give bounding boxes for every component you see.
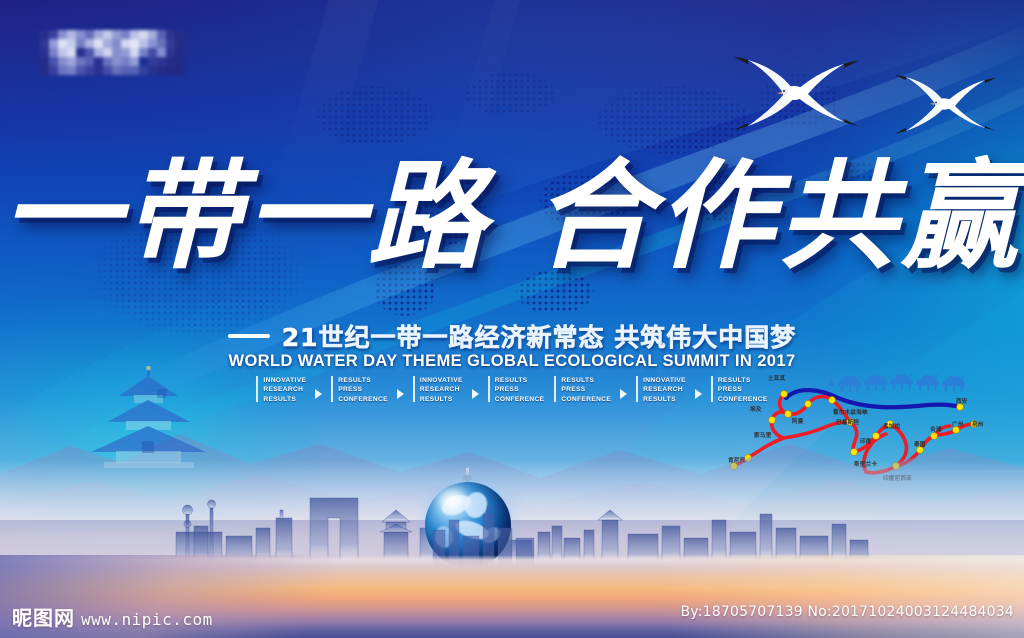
keyword-bar-icon	[636, 376, 638, 402]
keyword-bar-icon	[256, 376, 258, 402]
seagull-icon-small	[893, 68, 999, 140]
keyword-bar-icon	[331, 376, 333, 402]
arrow-right-icon	[620, 389, 627, 399]
page-title: 一带一路 合作共赢	[0, 150, 1024, 282]
map-label-turkey: 土耳其	[768, 374, 785, 382]
keyword-bar-icon	[711, 376, 713, 402]
arrow-right-icon	[315, 389, 322, 399]
site-watermark-cn: 昵图网	[12, 602, 75, 631]
camel-caravan-icon	[828, 373, 965, 391]
keyword-bar-icon	[488, 376, 490, 402]
arrow-right-icon	[472, 389, 479, 399]
arrow-right-icon	[397, 389, 404, 399]
keyword-bar-icon	[554, 376, 556, 402]
subtitle-chinese-row: 21世纪一带一路经济新常态 共筑伟大中国梦	[0, 318, 1024, 354]
site-watermark: 昵图网 www.nipic.com	[12, 602, 213, 631]
poster-canvas: 一带一路 合作共赢 21世纪一带一路经济新常态 共筑伟大中国梦 WORLD WA…	[0, 0, 1024, 638]
temple-of-heaven-icon	[74, 366, 224, 476]
seagull-icon-large	[732, 48, 862, 138]
subtitle-dash-icon	[228, 334, 270, 338]
mosaic-censored-logo	[40, 30, 184, 75]
keyword-bar-icon	[413, 376, 415, 402]
image-credit-id: By:18705707139 No:20171024003124484034	[680, 604, 1014, 620]
site-watermark-url: www.nipic.com	[81, 610, 213, 629]
arrow-right-icon	[695, 389, 702, 399]
subtitle-chinese: 21世纪一带一路经济新常态 共筑伟大中国梦	[282, 318, 797, 354]
sunset-band-right-tint	[564, 555, 1024, 638]
